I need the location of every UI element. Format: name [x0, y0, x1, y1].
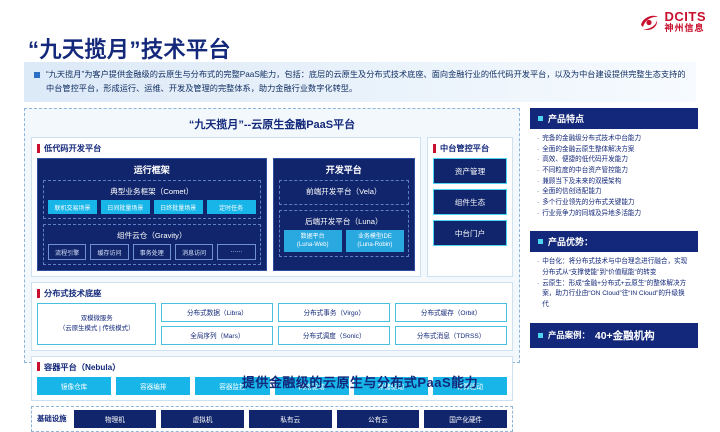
intro-text: “九天揽月”为客户提供金融级的云原生与分布式的完整PaaS能力，包括：底层的云原…	[46, 68, 686, 95]
infrastructure-item[interactable]: 国产化硬件	[424, 410, 507, 428]
panel-infrastructure: 基础设施 物理机 虚拟机 私有云 公有云 国产化硬件	[31, 406, 513, 432]
feature-text: 全面的信创适配能力	[542, 187, 601, 198]
base-cell[interactable]: 分布式数据（Libra）	[161, 303, 273, 322]
card-product-case: 产品案例： 40+金融机构	[530, 323, 698, 348]
backend-item[interactable]: 业务模型IDE (Luna-Robin)	[346, 230, 404, 252]
footer-caption: 提供金融级的云原生与分布式PaaS能力	[0, 372, 720, 391]
intro-banner: “九天揽月”为客户提供金融级的云原生与分布式的完整PaaS能力，包括：底层的云原…	[24, 62, 696, 102]
gravity-item[interactable]: 事务处理	[133, 244, 171, 260]
architecture-diagram: “九天揽月”--云原生金融PaaS平台 低代码开发平台 运行框架 典型业务框架（…	[24, 108, 520, 363]
dot-icon: ·	[537, 145, 539, 156]
backend-item-line2: (Luna-Robin)	[357, 242, 392, 248]
backend-item-line2: (Luna-Web)	[297, 242, 329, 248]
comet-item[interactable]: 日间批量场景	[101, 200, 150, 214]
gravity-item[interactable]: 流程引擎	[48, 244, 86, 260]
feature-item: ·高效、便捷的低代码开发能力	[537, 155, 691, 166]
gravity-item[interactable]: ……	[217, 244, 255, 260]
base-cell[interactable]: 分布式调度（Sonic）	[278, 326, 390, 345]
feature-item: ·全面的信创适配能力	[537, 187, 691, 198]
card-product-features: 产品特点 ·完备的金融级分布式技术中台能力 ·全面的金融云原生整体解决方案 ·高…	[530, 108, 698, 225]
square-bullet-icon	[34, 72, 40, 78]
red-tick-icon	[37, 144, 40, 153]
features-body: ·完备的金融级分布式技术中台能力 ·全面的金融云原生整体解决方案 ·高效、便捷的…	[530, 129, 698, 225]
base-column: 分布式数据（Libra） 全局序列（Mars）	[161, 303, 273, 345]
advantage-item: ·云原生：形成“金融+分布式+云原生”的整体解决方案，助力行业由“ON Clou…	[537, 279, 691, 311]
feature-text: 多个行业领先的分布式关键能力	[542, 198, 634, 209]
comet-item[interactable]: 日终批量场景	[154, 200, 203, 214]
dot-icon: ·	[537, 279, 539, 311]
advantage-text: 中台化：将分布式技术与中台理念进行融合，实现分布式从“支撑使能”到“价值赋能”的…	[542, 257, 691, 278]
group-frontend: 前端开发平台（Vela）	[279, 180, 409, 205]
feature-text: 不同粒度的中台资产管控能力	[542, 166, 628, 177]
feature-item: ·不同粒度的中台资产管控能力	[537, 166, 691, 177]
feature-text: 行业竞争力的同城及异地多活能力	[542, 209, 641, 220]
box-dev-platform: 开发平台 前端开发平台（Vela） 后端开发平台（Luna） 数据平台 (Lun…	[273, 158, 415, 271]
panel-base-header: 分布式技术底座	[37, 287, 507, 299]
feature-item: ·多个行业领先的分布式关键能力	[537, 198, 691, 209]
panel-container-title: 容器平台（Nebula）	[44, 361, 120, 373]
dcits-swirl-icon	[638, 11, 660, 33]
backend-item-line1: 业务模型IDE	[358, 234, 392, 240]
runtime-title: 运行框架	[38, 159, 266, 180]
comet-item[interactable]: 联机交易场景	[48, 200, 97, 214]
feature-text: 兼顾当下及未来的双模架构	[542, 177, 621, 188]
group-comet: 典型业务框架（Comet） 联机交易场景 日间批量场景 日终批量场景 定时任务	[43, 180, 261, 219]
base-cell[interactable]: 分布式消息（TDRSS）	[395, 326, 507, 345]
base-cell[interactable]: 分布式缓存（Orbit）	[395, 303, 507, 322]
gravity-item[interactable]: 缓存访问	[90, 244, 128, 260]
midctl-item[interactable]: 资产管理	[433, 158, 507, 184]
advantage-text: 云原生：形成“金融+分布式+云原生”的整体解决方案，助力行业由“ON Cloud…	[542, 279, 691, 311]
brand-name-en: DCITS	[665, 10, 707, 23]
advantages-body: ·中台化：将分布式技术与中台理念进行融合，实现分布式从“支撑使能”到“价值赋能”…	[530, 252, 698, 316]
panel-base-title: 分布式技术底座	[44, 287, 101, 299]
feature-text: 高效、便捷的低代码开发能力	[542, 155, 628, 166]
panel-container-header: 容器平台（Nebula）	[37, 361, 507, 373]
side-column: 产品特点 ·完备的金融级分布式技术中台能力 ·全面的金融云原生整体解决方案 ·高…	[530, 108, 698, 348]
card-product-advantages: 产品优势： ·中台化：将分布式技术与中台理念进行融合，实现分布式从“支撑使能”到…	[530, 231, 698, 316]
square-bullet-icon	[538, 333, 543, 338]
comet-title: 典型业务框架（Comet）	[48, 184, 256, 200]
group-gravity: 组件云仓（Gravity） 流程引擎 缓存访问 事务处理 消息访问 ……	[43, 224, 261, 265]
case-value: 40+金融机构	[595, 328, 655, 343]
feature-item: ·完备的金融级分布式技术中台能力	[537, 134, 691, 145]
gravity-item[interactable]: 消息访问	[175, 244, 213, 260]
panel-midctl-title: 中台管控平台	[440, 142, 489, 154]
board-title: “九天揽月”--云原生金融PaaS平台	[31, 113, 513, 137]
dot-icon: ·	[537, 134, 539, 145]
advantages-title: 产品优势：	[548, 235, 593, 248]
infrastructure-item[interactable]: 公有云	[337, 410, 420, 428]
panel-lowcode-platform: 低代码开发平台 运行框架 典型业务框架（Comet） 联机交易场景 日间批量场景…	[31, 137, 421, 277]
base-cell[interactable]: 分布式事务（Virgo）	[278, 303, 390, 322]
panel-midctl-header: 中台管控平台	[433, 142, 507, 154]
microservice-line1: 双模微服务	[38, 314, 155, 324]
dot-icon: ·	[537, 166, 539, 177]
base-microservice-cell[interactable]: 双模微服务 （云原生模式 | 传统模式）	[37, 303, 156, 345]
midctl-item[interactable]: 中台门户	[433, 220, 507, 246]
frontend-title: 前端开发平台（Vela）	[284, 184, 404, 200]
square-bullet-icon	[538, 116, 543, 121]
red-tick-icon	[37, 362, 40, 371]
panel-lowcode-header: 低代码开发平台	[37, 142, 415, 154]
red-tick-icon	[433, 144, 436, 153]
square-bullet-icon	[538, 239, 543, 244]
gravity-title: 组件云仓（Gravity）	[48, 228, 256, 244]
dot-icon: ·	[537, 155, 539, 166]
advantage-item: ·中台化：将分布式技术与中台理念进行融合，实现分布式从“支撑使能”到“价值赋能”…	[537, 257, 691, 278]
dot-icon: ·	[537, 198, 539, 209]
backend-title: 后端开发平台（Luna）	[284, 214, 404, 230]
advantages-header: 产品优势：	[530, 231, 698, 252]
base-column: 分布式缓存（Orbit） 分布式消息（TDRSS）	[395, 303, 507, 345]
features-header: 产品特点	[530, 108, 698, 129]
panel-lowcode-title: 低代码开发平台	[44, 142, 101, 154]
dot-icon: ·	[537, 187, 539, 198]
infrastructure-item[interactable]: 私有云	[249, 410, 332, 428]
feature-item: ·行业竞争力的同城及异地多活能力	[537, 209, 691, 220]
infrastructure-item[interactable]: 虚拟机	[161, 410, 244, 428]
dev-title: 开发平台	[274, 159, 414, 180]
feature-item: ·全面的金融云原生整体解决方案	[537, 145, 691, 156]
features-title: 产品特点	[548, 112, 584, 125]
microservice-line2: （云原生模式 | 传统模式）	[38, 324, 155, 334]
page-title: “九天揽月”技术平台	[28, 32, 231, 64]
case-label: 产品案例：	[548, 329, 590, 341]
backend-item-line1: 数据平台	[301, 234, 325, 240]
feature-text: 完备的金融级分布式技术中台能力	[542, 134, 641, 145]
feature-text: 全面的金融云原生整体解决方案	[542, 145, 634, 156]
comet-item[interactable]: 定时任务	[207, 200, 256, 214]
brand-logo: DCITS 神州信息	[638, 10, 707, 33]
brand-name-cn: 神州信息	[665, 24, 707, 33]
base-cell[interactable]: 全局序列（Mars）	[161, 326, 273, 345]
dot-icon: ·	[537, 209, 539, 220]
midctl-item[interactable]: 组件生态	[433, 189, 507, 215]
panel-distributed-base: 分布式技术底座 双模微服务 （云原生模式 | 传统模式） 分布式数据（Libra…	[31, 282, 513, 351]
feature-item: ·兼顾当下及未来的双模架构	[537, 177, 691, 188]
box-runtime-framework: 运行框架 典型业务框架（Comet） 联机交易场景 日间批量场景 日终批量场景 …	[37, 158, 267, 271]
dot-icon: ·	[537, 177, 539, 188]
backend-item[interactable]: 数据平台 (Luna-Web)	[284, 230, 342, 252]
base-column: 分布式事务（Virgo） 分布式调度（Sonic）	[278, 303, 390, 345]
red-tick-icon	[37, 289, 40, 298]
infrastructure-item[interactable]: 物理机	[74, 410, 157, 428]
panel-midplatform-control: 中台管控平台 资产管理 组件生态 中台门户	[427, 137, 513, 277]
dot-icon: ·	[537, 257, 539, 278]
infrastructure-label: 基础设施	[37, 413, 69, 424]
group-backend: 后端开发平台（Luna） 数据平台 (Luna-Web) 业务模型IDE (Lu…	[279, 210, 409, 257]
